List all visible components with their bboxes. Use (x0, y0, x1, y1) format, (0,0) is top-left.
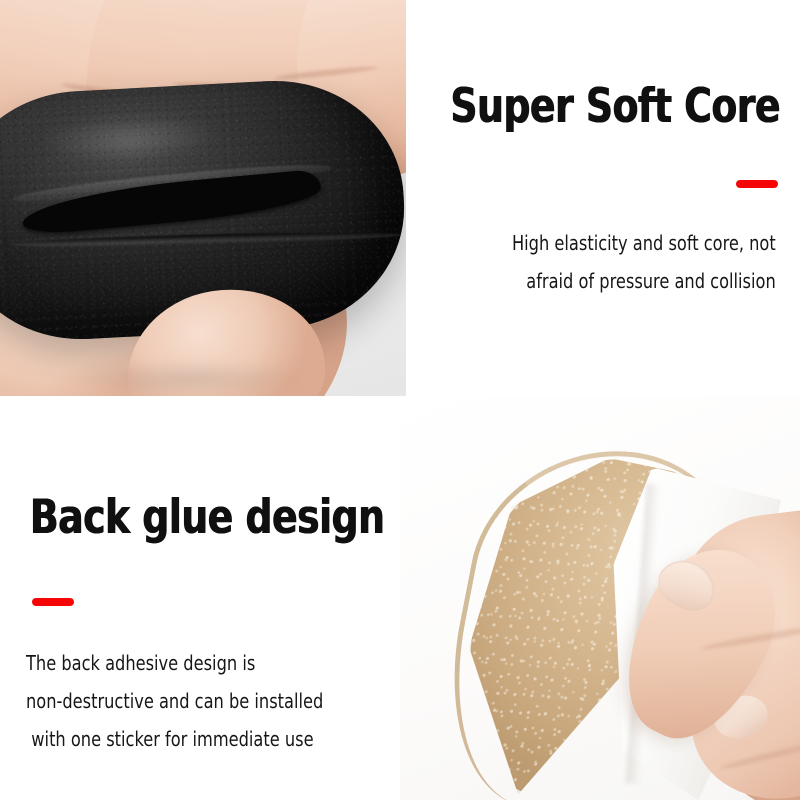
description-line: with one sticker for immediate use (26, 720, 323, 758)
page-title-back-glue: Back glue design (30, 494, 385, 541)
description-back-glue: The back adhesive design is non-destruct… (26, 644, 323, 758)
photo-panel-soft-core (0, 0, 406, 396)
description-line: afraid of pressure and collision (512, 262, 776, 300)
page-title-soft-core: Super Soft Core (450, 83, 780, 130)
photo-panel-back-glue (400, 396, 800, 800)
description-line: non-destructive and can be installed (26, 682, 323, 720)
hand-peeling-adhesive-liner-photo (400, 396, 800, 800)
photo-drop-shadow (40, 356, 340, 396)
text-panel-soft-core: Super Soft Core High elasticity and soft… (406, 0, 800, 396)
description-line: The back adhesive design is (26, 644, 323, 682)
product-feature-page: Super Soft Core High elasticity and soft… (0, 0, 800, 800)
description-soft-core: High elasticity and soft core, not afrai… (512, 224, 776, 300)
accent-bar-icon (736, 180, 778, 188)
hand-squeezing-black-pad-photo (0, 0, 406, 396)
accent-bar-icon (32, 598, 74, 606)
description-line: High elasticity and soft core, not (512, 224, 776, 262)
